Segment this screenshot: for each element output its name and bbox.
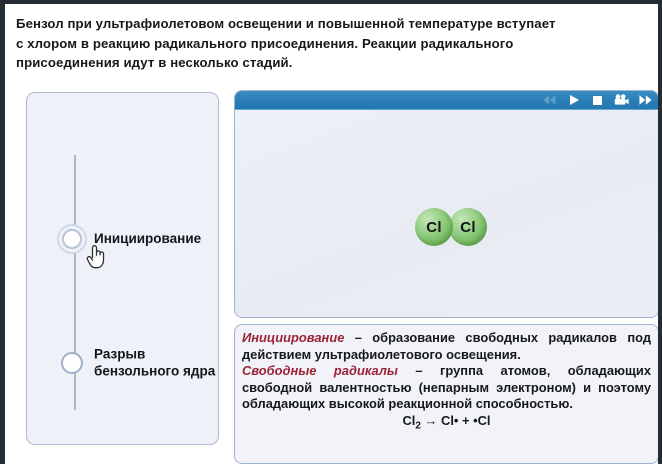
steps-panel: Инициирование Разрыв бензольного ядра Пр…: [26, 92, 219, 445]
atom-label: Cl: [449, 208, 487, 246]
intro-line-2: с хлором в реакцию радикального присоеди…: [16, 34, 644, 54]
step-dot-icon: [61, 352, 83, 374]
animation-stage: Cl Cl: [235, 110, 658, 317]
intro-paragraph: Бензол при ультрафиолетовом освещении и …: [16, 14, 644, 73]
definition-initiation: Инициирование – образование свободных ра…: [242, 330, 651, 363]
lesson-page: Бензол при ультрафиолетовом освещении и …: [5, 4, 658, 464]
chlorine-atom-right: Cl: [449, 208, 487, 246]
animation-panel: Cl Cl: [234, 90, 658, 318]
atom-label: Cl: [415, 208, 453, 246]
definition-panel: Инициирование – образование свободных ра…: [234, 324, 658, 464]
sidebar-item-initiation[interactable]: Инициирование: [47, 219, 217, 259]
animation-controls: [542, 91, 653, 109]
step-label: Разрыв бензольного ядра: [94, 347, 222, 380]
definition-free-radicals: Свободные радикалы – группа атомов, обла…: [242, 363, 651, 413]
animation-titlebar: [235, 91, 658, 110]
formula-cl: Cl: [402, 413, 415, 428]
chlorine-atom-left: Cl: [415, 208, 453, 246]
play-icon[interactable]: [566, 93, 581, 107]
movie-camera-icon[interactable]: [614, 93, 629, 107]
intro-line-3: присоединения идут в несколько стадий.: [16, 53, 644, 73]
stop-icon[interactable]: [590, 93, 605, 107]
hand-pointer-cursor: [85, 243, 107, 271]
chemical-formula: Cl2 → Cl• + •Cl: [242, 413, 651, 435]
step-label: Инициирование: [94, 231, 222, 248]
screen-frame: Бензол при ультрафиолетовом освещении и …: [0, 0, 662, 464]
fast-forward-icon[interactable]: [638, 93, 653, 107]
definition-term-initiation: Инициирование: [242, 330, 344, 345]
rewind-icon[interactable]: [542, 93, 557, 107]
formula-rest: → Cl• + •Cl: [421, 413, 491, 428]
definition-term-free-radicals: Свободные радикалы: [242, 363, 398, 378]
intro-line-1: Бензол при ультрафиолетовом освещении и …: [16, 14, 644, 34]
chlorine-molecule: Cl Cl: [415, 208, 487, 246]
step-dot-active-icon: [57, 224, 87, 254]
sidebar-item-ring-cleavage[interactable]: Разрыв бензольного ядра: [47, 343, 217, 383]
